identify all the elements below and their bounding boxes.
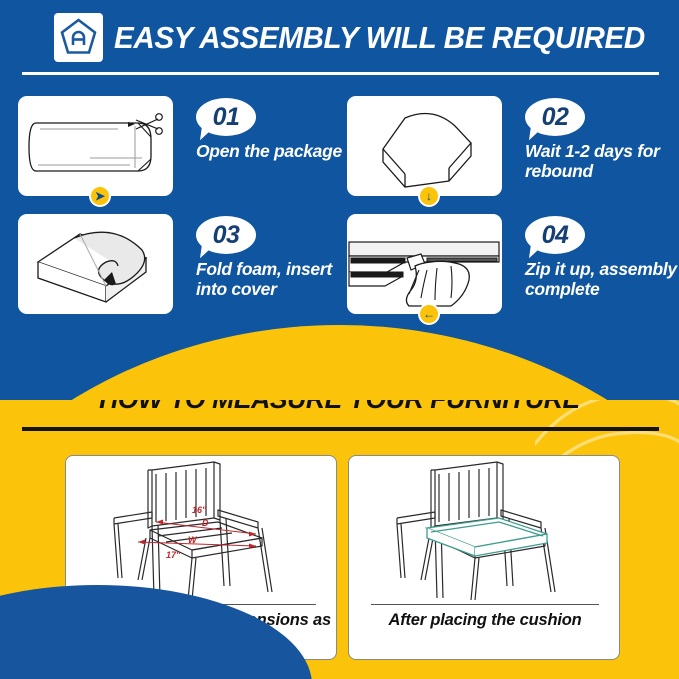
step-number-badge: 04 [525, 216, 589, 256]
assembly-step-1: ➤ 01 Open the package [18, 96, 345, 201]
infographic-page: EASY ASSEMBLY WILL BE REQUIRED [0, 0, 679, 679]
dimension-depth-axis: D [202, 518, 209, 528]
rebounded-cushion-icon [347, 96, 502, 196]
step-number-badge: 01 [196, 98, 260, 138]
caption-divider [371, 604, 599, 605]
step-description: Wait 1-2 days for rebound [525, 141, 679, 181]
section-curve-divider [0, 325, 679, 400]
fold-foam-into-cover-icon [18, 214, 173, 314]
assembly-header: EASY ASSEMBLY WILL BE REQUIRED [0, 0, 679, 90]
vacuum-pack-scissors-icon [18, 96, 173, 196]
step-number-label: 01 [196, 98, 256, 136]
assembly-step-3: 03 Fold foam, insert into cover [18, 214, 345, 319]
measure-title-divider [22, 427, 659, 431]
assembly-step-2: ↓ 02 Wait 1-2 days for rebound [347, 96, 674, 201]
step-number-label: 02 [525, 98, 585, 136]
arrow-right-icon: ➤ [89, 185, 111, 207]
hand-zipping-zipper-icon [347, 214, 502, 314]
arrow-left-icon: ← [418, 303, 440, 325]
measure-section-title: HOW TO MEASURE YOUR FURNITURE [0, 400, 679, 415]
step-description: Open the package [196, 141, 356, 161]
chair-with-dimensions-icon: 16" D W 17" [66, 456, 336, 604]
step-number-label: 04 [525, 216, 585, 254]
measure-section: HOW TO MEASURE YOUR FURNITURE [0, 400, 679, 679]
house-pentagon-icon [54, 13, 103, 62]
page-title: EASY ASSEMBLY WILL BE REQUIRED [114, 16, 643, 60]
assembly-step-4: ← 04 Zip it up, assembly complete [347, 214, 674, 319]
arrow-down-icon: ↓ [418, 185, 440, 207]
header-divider [22, 72, 659, 75]
step-description: Fold foam, insert into cover [196, 259, 356, 299]
step-number-label: 03 [196, 216, 256, 254]
chair-with-cushion-icon [349, 456, 619, 604]
assembly-section: EASY ASSEMBLY WILL BE REQUIRED [0, 0, 679, 400]
step-number-badge: 03 [196, 216, 260, 256]
measure-caption: After placing the cushion [349, 610, 620, 630]
step-number-badge: 02 [525, 98, 589, 138]
dimension-width-inches: 17" [166, 550, 181, 560]
dimension-depth-inches: 16" [192, 505, 207, 515]
measure-panel-cushion: After placing the cushion [348, 455, 620, 660]
step-description: Zip it up, assembly complete [525, 259, 679, 299]
